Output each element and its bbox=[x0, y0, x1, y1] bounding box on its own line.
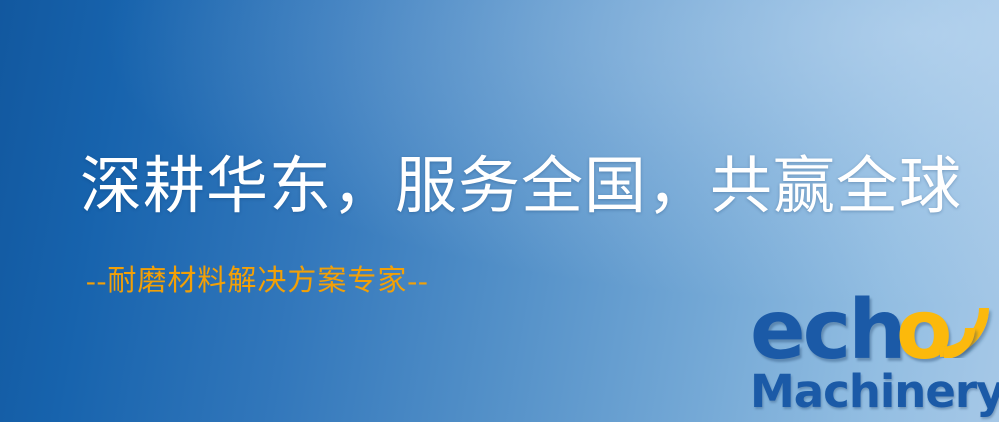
logo-echo-prefix-text: ech bbox=[750, 290, 904, 372]
logo-machinery-row: Machinery ® bbox=[750, 368, 999, 416]
signal-waves-icon bbox=[934, 292, 999, 358]
hero-banner: 深耕华东，服务全国，共赢全球 --耐磨材料解决方案专家-- ech o bbox=[0, 0, 999, 422]
logo-wordmark: ech o bbox=[748, 296, 996, 376]
company-logo: ech o Machinery ® bbox=[748, 296, 996, 418]
headline-text: 深耕华东，服务全国，共赢全球 bbox=[80, 151, 940, 223]
logo-machinery-text: Machinery bbox=[750, 368, 999, 416]
subtitle-text: --耐磨材料解决方案专家-- bbox=[86, 264, 429, 298]
